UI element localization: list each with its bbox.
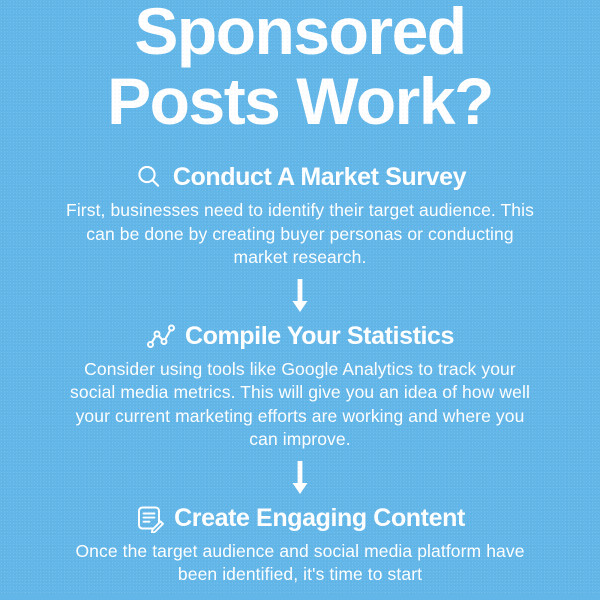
step-1-header: Conduct A Market Survey <box>0 162 600 192</box>
step-3-body: Once the target audience and social medi… <box>65 540 535 587</box>
step-create-engaging-content: Create Engaging Content Once the target … <box>0 503 600 587</box>
step-compile-your-statistics: Compile Your Statistics Consider using t… <box>0 321 600 452</box>
step-conduct-a-market-survey: Conduct A Market Survey First, businesse… <box>0 162 600 270</box>
arrow-down-icon <box>289 461 311 495</box>
step-1-title: Conduct A Market Survey <box>173 162 466 192</box>
magnifying-glass-icon <box>134 162 164 192</box>
step-3-header: Create Engaging Content <box>0 503 600 533</box>
page-title: Sponsored Posts Work? <box>0 0 600 138</box>
infographic-page: Sponsored Posts Work? Conduct A Market S… <box>0 0 600 594</box>
connector-arrow-1 <box>0 279 600 313</box>
step-2-body: Consider using tools like Google Analyti… <box>65 358 535 452</box>
step-1-body: First, businesses need to identify their… <box>65 199 535 270</box>
title-line-1: Sponsored <box>0 0 600 68</box>
step-2-header: Compile Your Statistics <box>0 321 600 351</box>
title-line-2: Posts Work? <box>0 64 600 138</box>
arrow-down-icon <box>289 279 311 313</box>
step-2-title: Compile Your Statistics <box>185 321 454 351</box>
step-3-title: Create Engaging Content <box>174 503 465 533</box>
line-chart-icon <box>146 321 176 351</box>
connector-arrow-2 <box>0 461 600 495</box>
document-edit-icon <box>135 503 165 533</box>
